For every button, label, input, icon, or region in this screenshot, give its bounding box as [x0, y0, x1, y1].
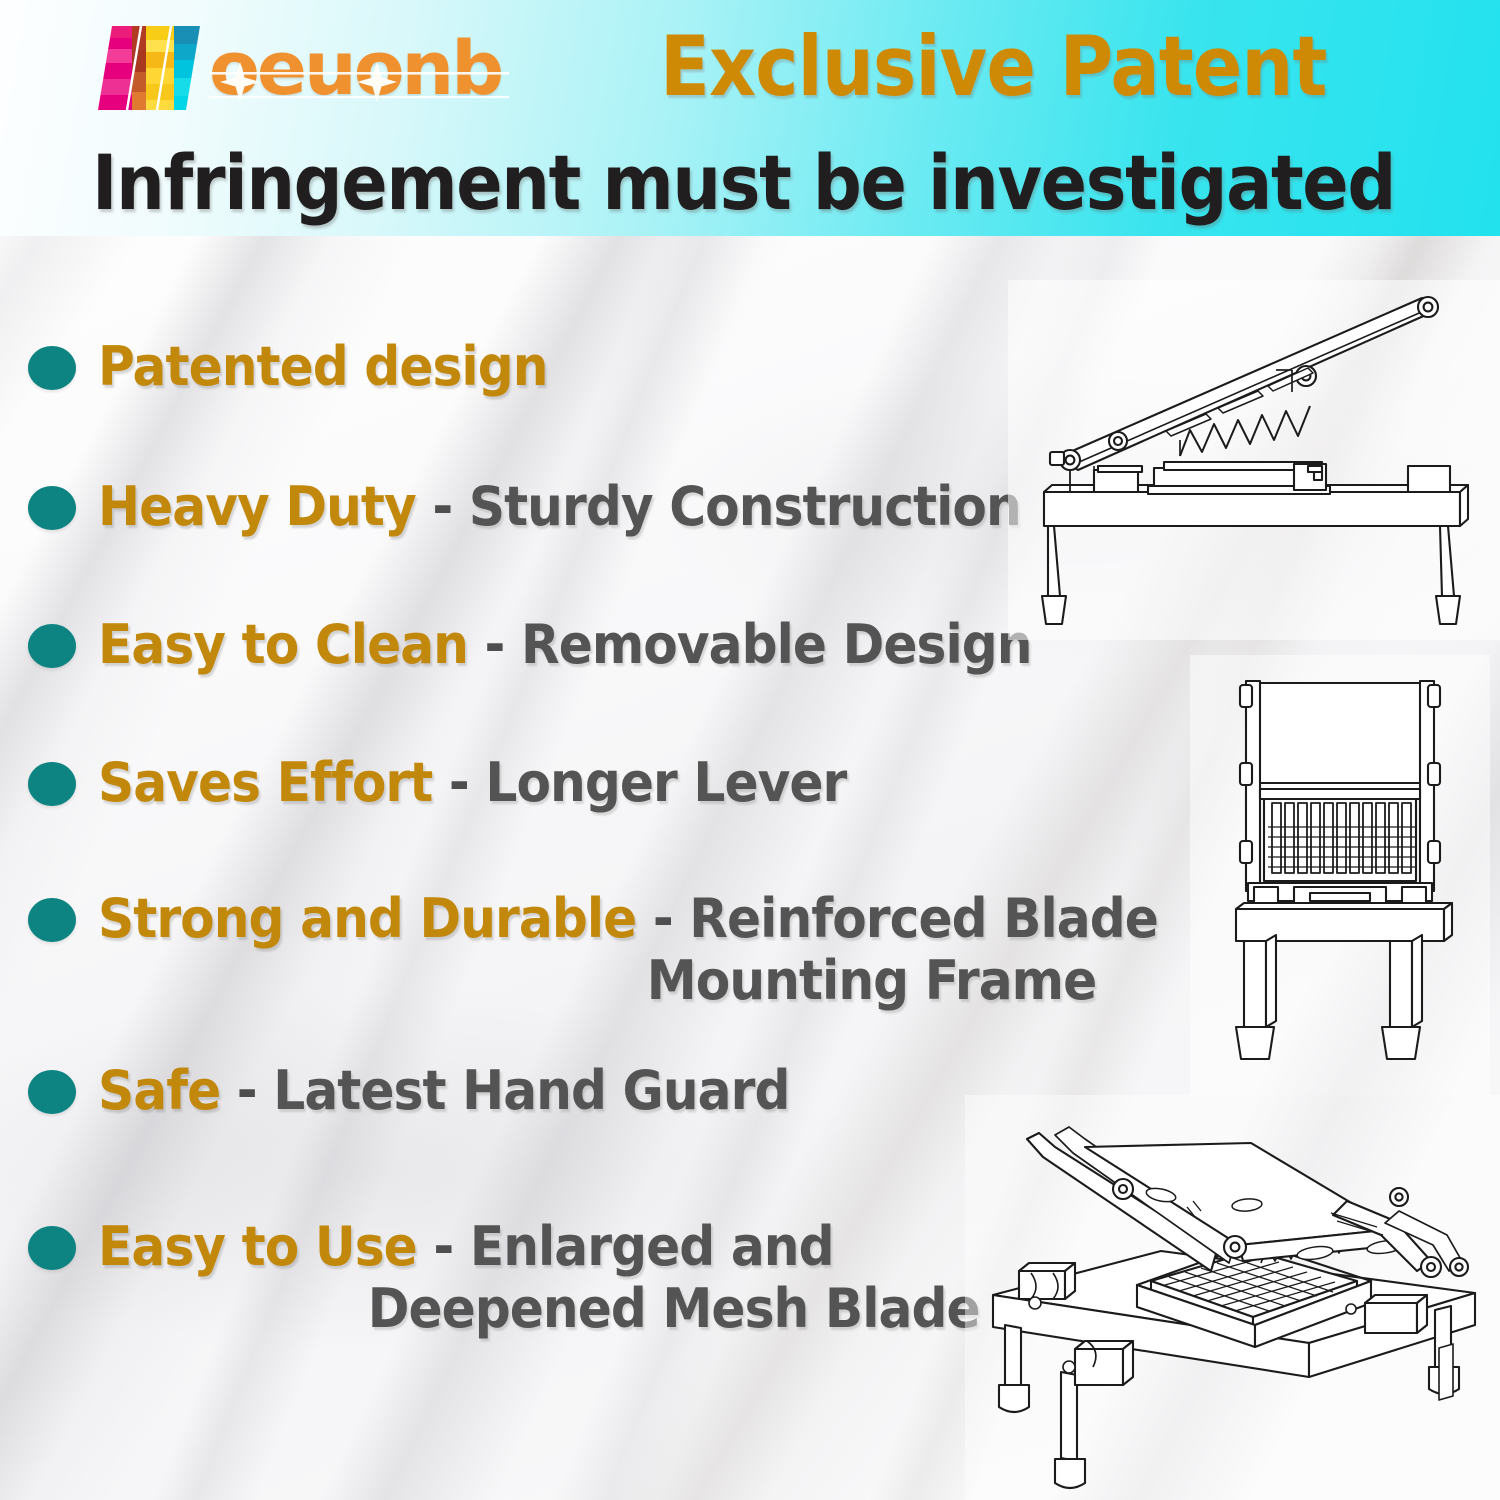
feature-text: Safe - Latest Hand Guard	[98, 1060, 789, 1122]
feature-highlight: Easy to Use	[98, 1215, 417, 1278]
list-item: Saves Effort - Longer Lever	[28, 752, 903, 814]
feature-line2: Deepened Mesh Blade	[98, 1278, 980, 1340]
feature-dash: -	[468, 613, 521, 676]
header-banner: oeuonb Exclusive Patent Infringement mus…	[0, 0, 1500, 236]
feature-rest: Reinforced Blade	[689, 887, 1158, 950]
wordmark-stripe-decor-icon	[209, 46, 509, 116]
feature-rest: Longer Lever	[485, 751, 846, 814]
bullet-dot-icon	[28, 1070, 76, 1114]
feature-text: Patented design	[98, 336, 548, 398]
feature-text: Heavy Duty - Sturdy Construction	[98, 476, 1021, 538]
feature-dash: -	[220, 1059, 273, 1122]
page-subtitle: Infringement must be investigated	[92, 138, 1352, 227]
page-title: Exclusive Patent	[660, 18, 1346, 128]
feature-text: Saves Effort - Longer Lever	[98, 752, 846, 814]
feature-highlight: Easy to Clean	[98, 613, 468, 676]
list-item: Strong and Durable - Reinforced Blade Mo…	[28, 888, 1238, 1012]
bullet-dot-icon	[28, 346, 76, 390]
bullet-dot-icon	[28, 486, 76, 530]
feature-dash: -	[636, 887, 689, 950]
feature-list: Patented design Heavy Duty - Sturdy Cons…	[0, 236, 1040, 1500]
feature-dash: -	[432, 751, 485, 814]
bullet-dot-icon	[28, 762, 76, 806]
feature-text: Strong and Durable - Reinforced Blade Mo…	[98, 888, 1158, 1012]
feature-rest: Removable Design	[521, 613, 1032, 676]
bullet-dot-icon	[28, 1226, 76, 1270]
feature-rest: Enlarged and	[470, 1215, 834, 1278]
feature-highlight: Heavy Duty	[98, 475, 416, 538]
bullet-dot-icon	[28, 898, 76, 942]
list-item: Heavy Duty - Sturdy Construction	[28, 476, 1090, 538]
feature-highlight: Safe	[98, 1059, 220, 1122]
bullet-dot-icon	[28, 624, 76, 668]
feature-line2: Mounting Frame	[98, 950, 1158, 1012]
feature-text: Easy to Clean - Removable Design	[98, 614, 1032, 676]
bone-cutter-front-view-icon	[1190, 655, 1490, 1095]
bone-cutter-perspective-view-icon	[965, 1095, 1500, 1500]
list-item: Safe - Latest Hand Guard	[28, 1060, 842, 1122]
feature-rest: Sturdy Construction	[469, 475, 1021, 538]
list-item: Easy to Clean - Removable Design	[28, 614, 1102, 676]
feature-rest: Latest Hand Guard	[273, 1059, 789, 1122]
feature-text: Easy to Use - Enlarged and Deepened Mesh…	[98, 1216, 980, 1340]
feature-highlight: Patented design	[98, 335, 548, 398]
list-item: Patented design	[28, 336, 581, 398]
bone-cutter-side-view-icon	[1008, 280, 1500, 640]
brand-logo: oeuonb	[96, 24, 496, 116]
feature-highlight: Saves Effort	[98, 751, 432, 814]
feature-dash: -	[417, 1215, 470, 1278]
moeuonb-logo-icon	[96, 26, 214, 110]
feature-dash: -	[416, 475, 469, 538]
infographic-page: oeuonb Exclusive Patent Infringement mus…	[0, 0, 1500, 1500]
feature-highlight: Strong and Durable	[98, 887, 636, 950]
list-item: Easy to Use - Enlarged and Deepened Mesh…	[28, 1216, 1046, 1340]
